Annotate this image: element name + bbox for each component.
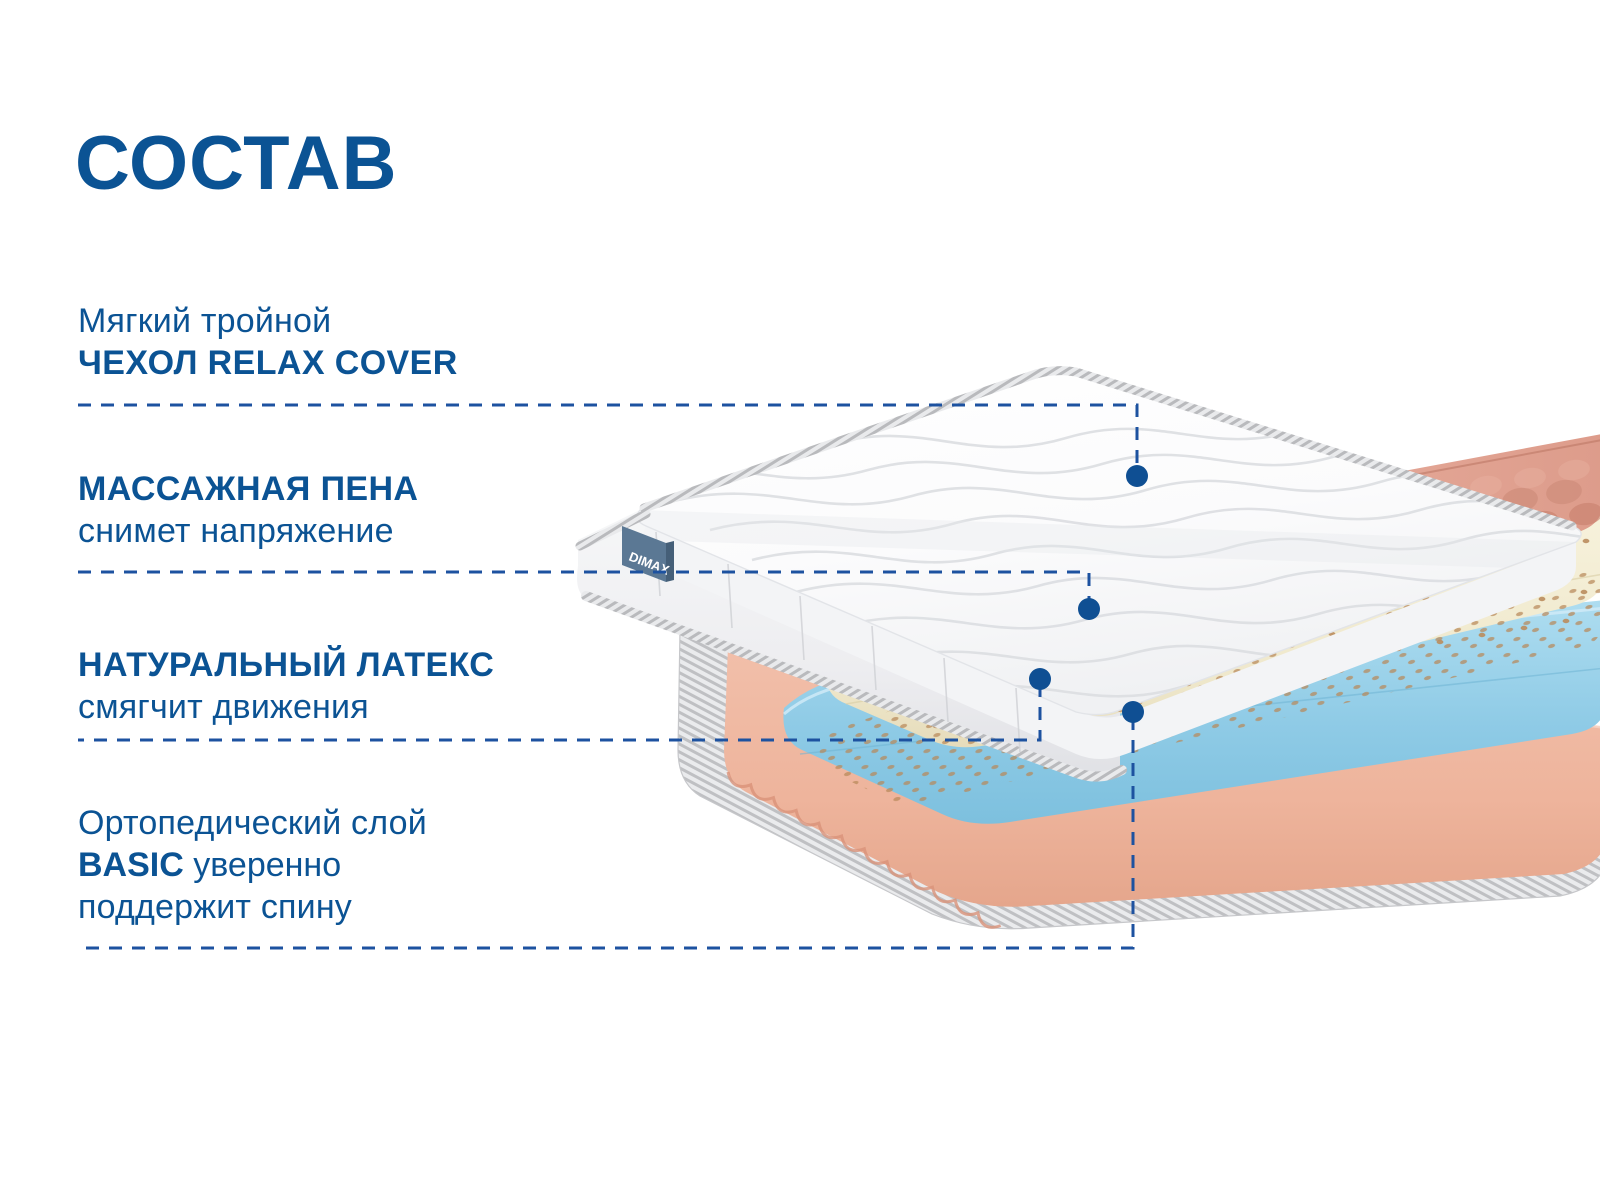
callout-basic-support-line-3: поддержит спину (78, 886, 427, 928)
callout-massage-foam-line-2: снимет напряжение (78, 510, 418, 552)
infographic-canvas: СОСТАВ (0, 0, 1600, 1200)
basic-rest: уверенно (184, 846, 341, 884)
callout-basic-support: Ортопедический слой BASIC уверенно подде… (78, 802, 427, 928)
callout-cover: Мягкий тройной ЧЕХОЛ RELAX COVER (78, 300, 458, 384)
callout-natural-latex-line-2: смягчит движения (78, 686, 494, 728)
callout-natural-latex: НАТУРАЛЬНЫЙ ЛАТЕКС смягчит движения (78, 644, 494, 728)
callout-basic-support-line-1: Ортопедический слой (78, 802, 427, 844)
mattress-illustration: DIMAX (560, 330, 1600, 930)
callout-cover-line-1: Мягкий тройной (78, 300, 458, 342)
callout-massage-foam-line-1: МАССАЖНАЯ ПЕНА (78, 468, 418, 510)
callout-natural-latex-line-1: НАТУРАЛЬНЫЙ ЛАТЕКС (78, 644, 494, 686)
callout-basic-support-line-2: BASIC уверенно (78, 844, 427, 886)
basic-keyword: BASIC (78, 846, 184, 884)
callout-cover-line-2: ЧЕХОЛ RELAX COVER (78, 342, 458, 384)
page-title: СОСТАВ (75, 126, 398, 202)
callout-massage-foam: МАССАЖНАЯ ПЕНА снимет напряжение (78, 468, 418, 552)
